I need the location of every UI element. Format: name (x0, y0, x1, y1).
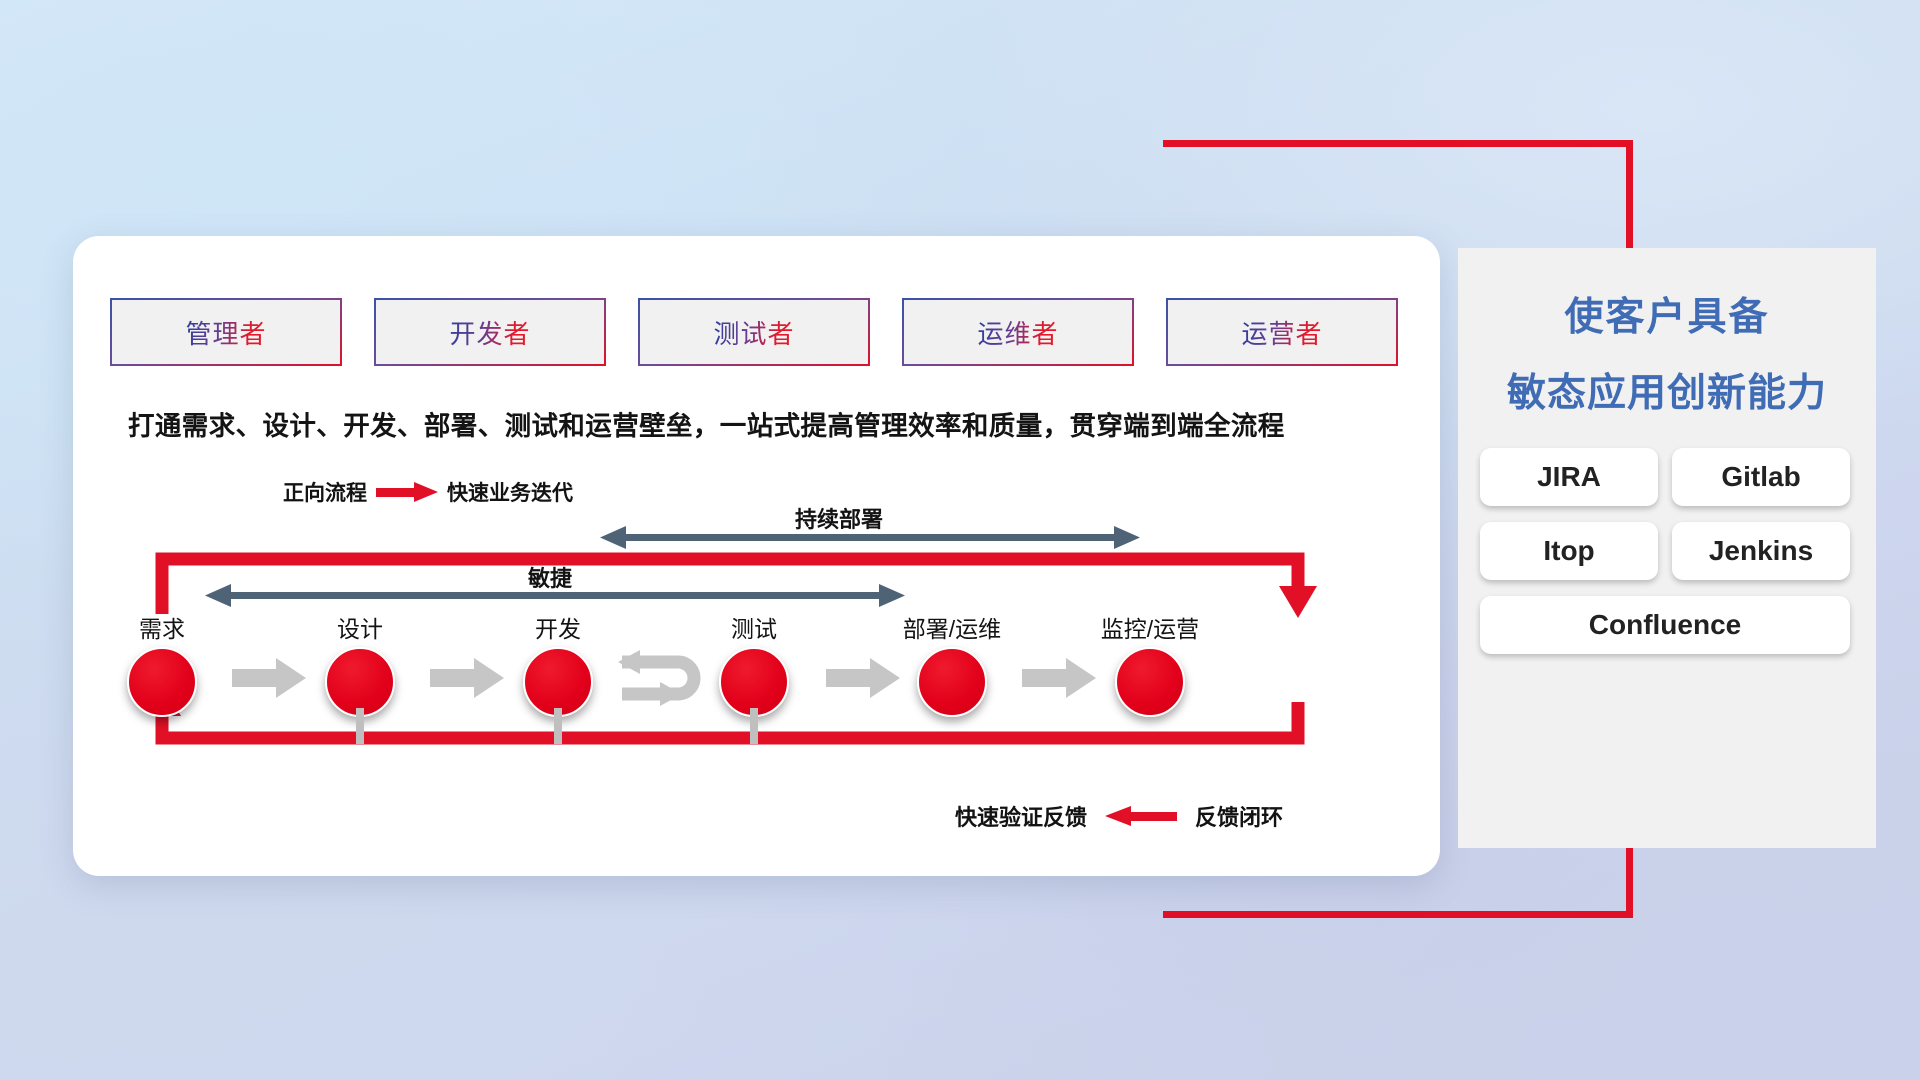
feedback-result-label: 快速验证反馈 (955, 800, 1087, 832)
stage-dot (127, 647, 197, 717)
red-right-arrow-icon (376, 481, 438, 503)
continuous-deployment-double-arrow-icon (600, 525, 1140, 551)
role-box-developer[interactable]: 开发者 (374, 298, 606, 366)
stage-design[interactable]: 设计 (298, 610, 422, 717)
panel-headline-line2: 敏态应用创新能力 (1458, 362, 1876, 418)
value-proposition-panel: 使客户具备 敏态应用创新能力 JIRA Gitlab Itop Jenkins … (1458, 248, 1876, 848)
stage-monitor-operate[interactable]: 监控/运营 (1088, 610, 1212, 717)
stage-dot (917, 647, 987, 717)
grey-right-arrow-icon (826, 658, 900, 698)
stage-dot (719, 647, 789, 717)
grey-right-arrow-icon (1022, 658, 1096, 698)
tool-chip-jira[interactable]: JIRA (1480, 448, 1658, 506)
description-text: 打通需求、设计、开发、部署、测试和运营壁垒，一站式提高管理效率和质量，贯穿端到端… (128, 404, 1418, 443)
stage-label: 监控/运营 (1088, 610, 1212, 644)
grey-right-arrow-icon (232, 658, 306, 698)
stage-dot (325, 647, 395, 717)
role-label: 运维者 (977, 314, 1058, 351)
stage-stub (554, 708, 562, 744)
stage-develop[interactable]: 开发 (496, 610, 620, 717)
stage-deploy-ops[interactable]: 部署/运维 (890, 610, 1014, 717)
stage-dot (523, 647, 593, 717)
tool-chip-gitlab[interactable]: Gitlab (1672, 448, 1850, 506)
role-label: 测试者 (713, 314, 794, 351)
stage-label: 部署/运维 (890, 610, 1014, 644)
stage-requirement[interactable]: 需求 (100, 610, 224, 717)
forward-flow-label: 正向流程 (283, 477, 367, 507)
tool-chip-list: JIRA Gitlab Itop Jenkins Confluence (1458, 448, 1876, 654)
role-box-operator[interactable]: 运营者 (1166, 298, 1398, 366)
panel-headline-line1: 使客户具备 (1458, 286, 1876, 342)
role-box-tester[interactable]: 测试者 (638, 298, 870, 366)
stage-label: 需求 (100, 610, 224, 644)
forward-result-label: 快速业务迭代 (447, 477, 573, 507)
stage-label: 测试 (692, 610, 816, 644)
role-label: 管理者 (185, 314, 266, 351)
role-box-row: 管理者 开发者 测试者 运维者 运营者 (110, 298, 1398, 366)
stage-test[interactable]: 测试 (692, 610, 816, 717)
feedback-loop-label: 反馈闭环 (1195, 800, 1283, 832)
tool-chip-jenkins[interactable]: Jenkins (1672, 522, 1850, 580)
tool-chip-itop[interactable]: Itop (1480, 522, 1658, 580)
forward-flow-legend: 正向流程 快速业务迭代 (283, 477, 573, 507)
stage-stub (750, 708, 758, 744)
tool-chip-confluence[interactable]: Confluence (1480, 596, 1850, 654)
grey-right-arrow-icon (430, 658, 504, 698)
stage-label: 设计 (298, 610, 422, 644)
red-left-arrow-icon (1105, 805, 1177, 827)
stage-dot (1115, 647, 1185, 717)
stage-label: 开发 (496, 610, 620, 644)
role-label: 开发者 (449, 314, 530, 351)
role-box-ops[interactable]: 运维者 (902, 298, 1134, 366)
pipeline-stage-row: 需求 设计 开发 测试 部署/运维 监控/运营 (100, 610, 1420, 730)
role-box-manager[interactable]: 管理者 (110, 298, 342, 366)
feedback-legend: 快速验证反馈 反馈闭环 (955, 800, 1283, 832)
stage-stub (356, 708, 364, 744)
role-label: 运营者 (1241, 314, 1322, 351)
